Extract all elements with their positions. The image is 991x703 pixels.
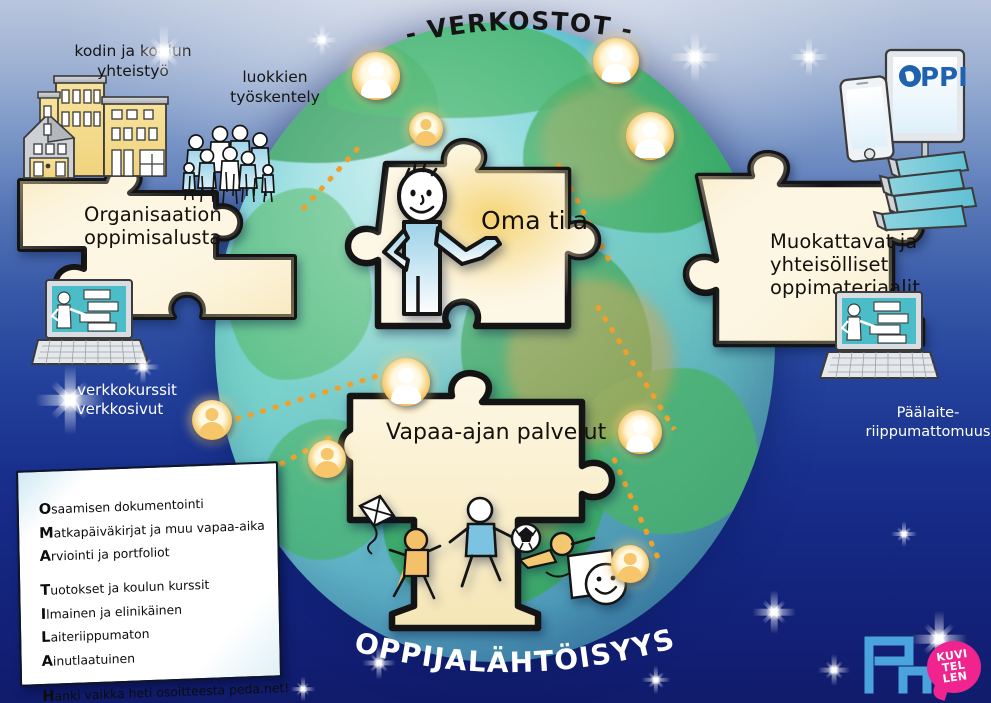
avatar-body bbox=[361, 79, 391, 98]
callout-line: työskentely bbox=[210, 88, 340, 108]
call-to-action-text: Hanki vaikka heti osoitteesta peda.net! bbox=[42, 677, 264, 703]
avatar-head bbox=[642, 122, 658, 138]
puzzle-label-vapaa-ajan: Vapaa-ajan palvelut bbox=[386, 420, 606, 446]
feature-list-card: Osaamisen dokumentointi Matkapäiväkirjat… bbox=[16, 461, 282, 687]
laptop-materials-illustration bbox=[820, 290, 940, 384]
heading-oppijalahtoisyys: - OPPIJALÄHTÖISYYS - bbox=[330, 628, 700, 698]
avatar-head bbox=[398, 368, 414, 384]
classroom-group-illustration bbox=[176, 122, 284, 208]
avatar-head bbox=[321, 448, 334, 461]
avatar-body bbox=[200, 422, 225, 438]
callout-line: kodin ja koulun bbox=[48, 42, 218, 62]
leisure-activities-illustration bbox=[350, 494, 640, 614]
user-avatar-badge[interactable] bbox=[409, 112, 443, 146]
user-avatar-badge[interactable] bbox=[626, 112, 674, 160]
user-avatar-badge[interactable] bbox=[382, 358, 430, 406]
callout-line: riippumattomuus bbox=[862, 423, 991, 442]
kuvittelen-speech-bubble[interactable]: KUVI TEL LEN bbox=[927, 641, 981, 693]
puzzle-piece-vapaa-ajan[interactable]: Vapaa-ajan palvelut bbox=[330, 366, 660, 636]
callout-luokkien: luokkien työskentely bbox=[210, 68, 340, 108]
laptop-online-course-illustration bbox=[32, 278, 150, 370]
puzzle-label-line: Oma tila bbox=[481, 206, 588, 236]
avatar-body bbox=[602, 64, 631, 82]
callout-paalaite: Päälaite- riippumattomuus bbox=[862, 404, 991, 441]
callout-verkkokurssit: verkkokurssit verkkosivut bbox=[52, 381, 202, 419]
callout-line: verkkokurssit bbox=[52, 381, 202, 400]
callout-line: yhteistyö bbox=[48, 62, 218, 82]
puzzle-label-muokattavat: Muokattavat ja yhteisölliset oppimateria… bbox=[770, 230, 920, 299]
avatar-body bbox=[391, 385, 421, 404]
person-stick-figure bbox=[378, 166, 528, 336]
devices-and-books-illustration: PPI bbox=[838, 48, 990, 230]
avatar-head bbox=[205, 408, 218, 421]
infographic-canvas: - VERKOSTOT - - OPPIJALÄHTÖISYYS - bbox=[0, 0, 991, 703]
puzzle-label-line: oppimisalusta bbox=[84, 226, 222, 249]
sparkle-icon bbox=[886, 516, 922, 552]
user-avatar-badge[interactable] bbox=[352, 52, 400, 100]
avatar-body bbox=[635, 139, 665, 158]
avatar-body bbox=[315, 461, 339, 476]
avatar-head bbox=[608, 47, 623, 62]
peda-net-logo[interactable]: KUVI TEL LEN bbox=[859, 629, 983, 699]
user-avatar-badge[interactable] bbox=[618, 410, 662, 454]
callout-line: verkkosivut bbox=[38, 400, 202, 419]
puzzle-label-line: yhteisölliset bbox=[770, 253, 920, 276]
avatar-body bbox=[618, 566, 642, 581]
bubble-line: LEN bbox=[939, 670, 971, 685]
puzzle-piece-oma-tila[interactable]: Oma tila bbox=[316, 130, 666, 365]
avatar-body bbox=[626, 435, 653, 453]
school-and-home-buildings-illustration bbox=[18, 66, 188, 198]
avatar-head bbox=[420, 119, 431, 130]
sparkle-icon bbox=[812, 648, 856, 692]
avatar-head bbox=[624, 553, 637, 566]
tablet-oppi-logo-text: PPI bbox=[920, 63, 968, 93]
avatar-body bbox=[415, 131, 436, 145]
puzzle-label-line: Vapaa-ajan palvelut bbox=[386, 420, 606, 446]
callout-line: Päälaite- bbox=[862, 404, 991, 423]
avatar-head bbox=[633, 419, 648, 434]
user-avatar-badge[interactable] bbox=[593, 38, 639, 84]
sparkle-icon bbox=[744, 582, 804, 642]
user-avatar-badge[interactable] bbox=[611, 545, 649, 583]
sparkle-icon bbox=[286, 672, 320, 703]
callout-line: luokkien bbox=[210, 68, 340, 88]
sparkle-icon bbox=[782, 30, 836, 84]
puzzle-label-oma-tila: Oma tila bbox=[481, 206, 588, 236]
user-avatar-badge[interactable] bbox=[308, 440, 346, 478]
avatar-head bbox=[368, 62, 384, 78]
callout-kodin-ja-koulun: kodin ja koulun yhteistyö bbox=[48, 42, 218, 82]
puzzle-label-organisaation: Organisaation oppimisalusta bbox=[84, 203, 222, 249]
puzzle-label-line: Muokattavat ja bbox=[770, 230, 920, 253]
